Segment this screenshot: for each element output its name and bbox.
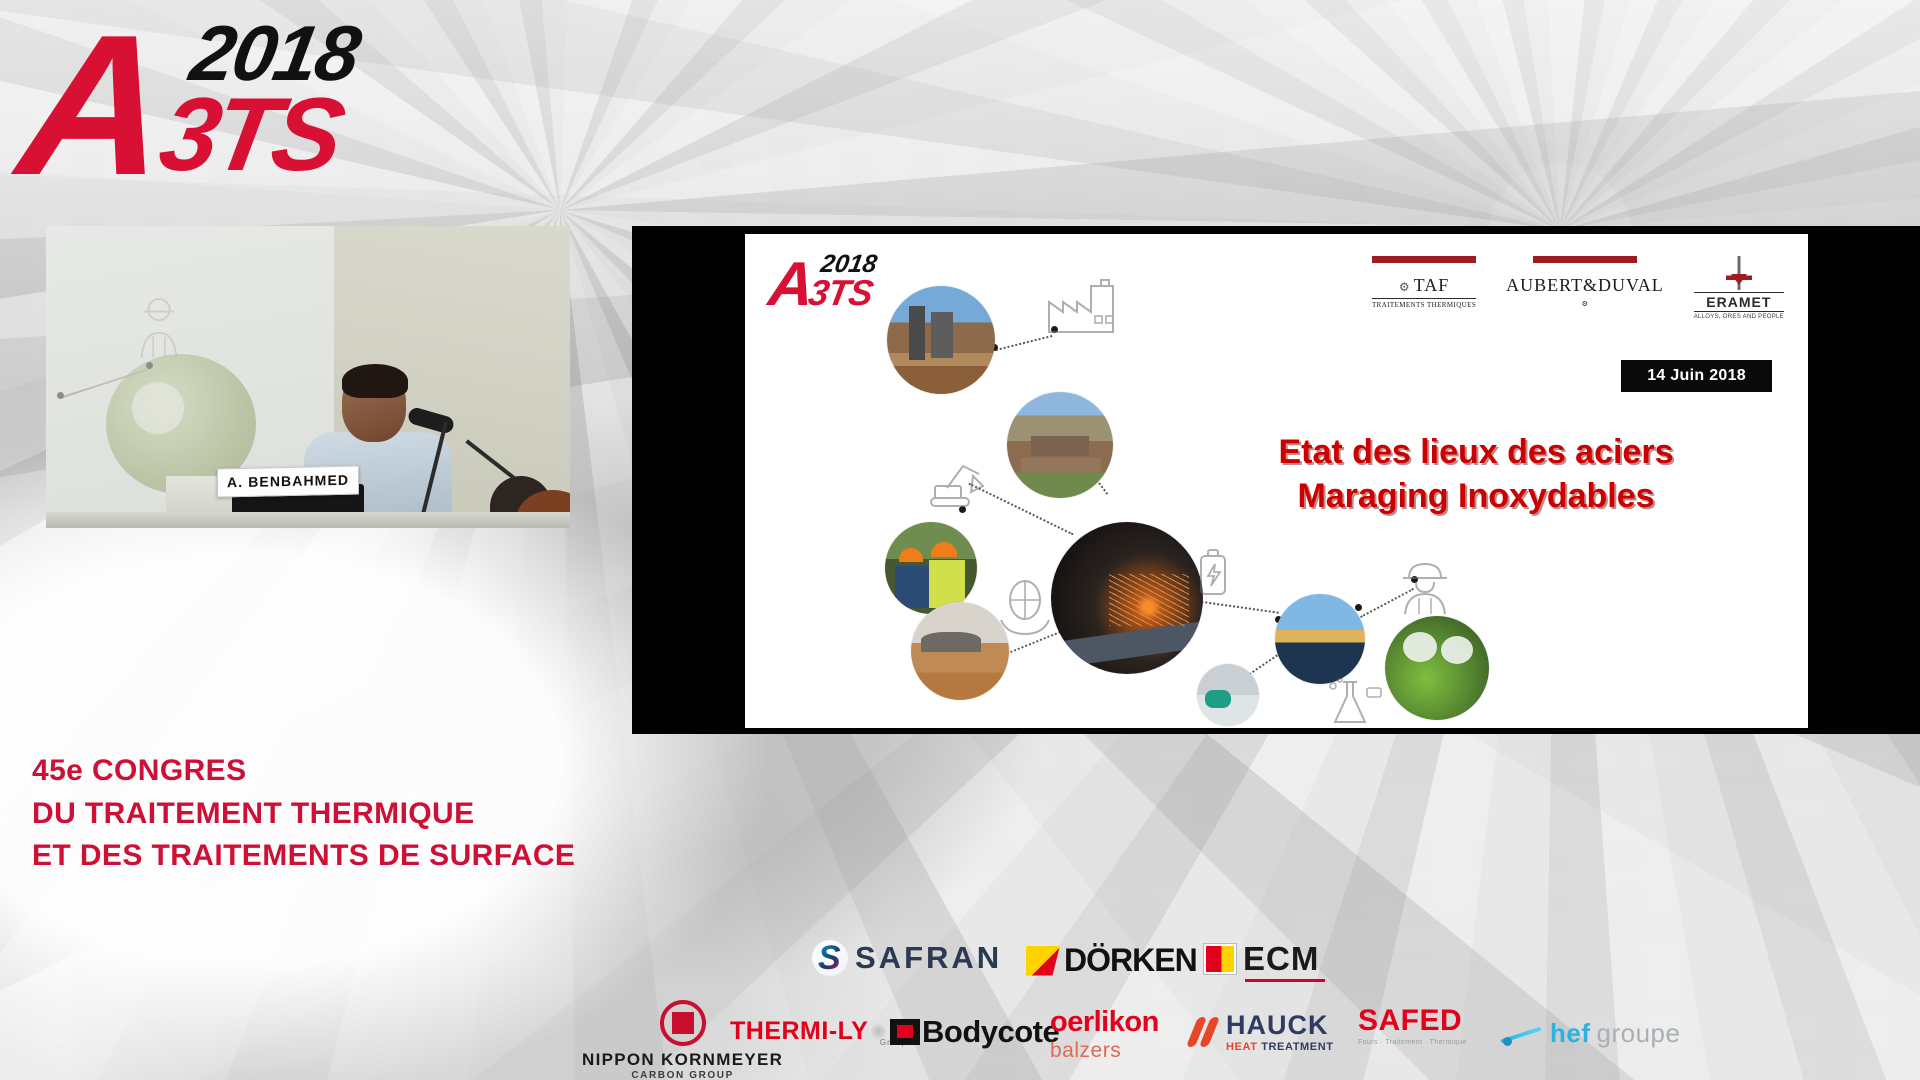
ecm-cube-icon xyxy=(1204,944,1236,974)
safran-swirl-icon xyxy=(812,940,848,976)
nature-plants-photo xyxy=(1385,616,1489,720)
battery-icon xyxy=(1197,548,1229,596)
sponsor-name-part-a: THERMI-LY xyxy=(730,1017,868,1046)
sponsor-logo-band: SAFRAN DÖRKEN ECM NIPPON KORNMEYER CARBO… xyxy=(560,918,1920,1080)
connector-line xyxy=(996,335,1053,351)
sponsor-logo-thermi-lyon[interactable]: THERMI-LY N Groupe xyxy=(730,1016,913,1047)
projected-worker-icon xyxy=(130,294,188,360)
grinding-sparks-photo xyxy=(1051,522,1203,674)
excavator-icon xyxy=(927,458,991,510)
sponsor-logo-dorken[interactable]: DÖRKEN xyxy=(1026,942,1197,979)
congress-line-1: 45e CONGRES xyxy=(32,750,672,793)
sponsor-name: SAFED xyxy=(1358,1004,1462,1038)
sponsor-name-part-a: HAUCK xyxy=(1226,1010,1329,1041)
a3ts-brand-logo: A 2018 3TS xyxy=(14,2,434,192)
sponsor-name-part-b1: HEAT xyxy=(1226,1041,1261,1053)
sponsor-logo-hef-groupe[interactable]: hef groupe xyxy=(1500,1018,1680,1049)
sponsor-name-part-b: balzers xyxy=(1050,1039,1121,1063)
sponsor-logo-safran[interactable]: SAFRAN xyxy=(812,940,1002,976)
node-dot xyxy=(1355,604,1362,611)
projected-node-dot xyxy=(146,362,153,369)
sponsor-logo-safed[interactable]: SAFED Fours · Traitement · Thermique xyxy=(1358,1004,1467,1049)
congress-caption: 45e CONGRES DU TRAITEMENT THERMIQUE ET D… xyxy=(32,750,672,878)
workers-helmets-photo xyxy=(885,522,977,614)
hauck-flame-icon xyxy=(1190,1017,1220,1047)
sponsor-subtitle: CARBON GROUP xyxy=(631,1070,734,1080)
lab-flask-icon xyxy=(1323,678,1383,728)
congress-line-2: DU TRAITEMENT THERMIQUE xyxy=(32,793,672,836)
sponsor-name-part-a: hef xyxy=(1550,1018,1591,1049)
thermi-lyon-sun-icon xyxy=(871,1024,886,1039)
bodycote-square-icon xyxy=(890,1019,920,1045)
globe-in-hands-icon xyxy=(995,578,1055,638)
sponsor-name: NIPPON KORNMEYER xyxy=(582,1050,783,1070)
hef-wave-icon xyxy=(1500,1019,1544,1049)
infographic xyxy=(745,234,1808,728)
presentation-slide-frame[interactable]: A 2018 3TS ⚙TAF TRAITEMENTS THERMIQUES A… xyxy=(632,226,1920,734)
factory-icon xyxy=(1045,278,1121,334)
mining-site-photo xyxy=(1007,392,1113,498)
brand-letter-a: A xyxy=(11,6,166,206)
worker-helmet-icon xyxy=(1399,560,1451,616)
sponsor-name: ECM xyxy=(1243,940,1319,978)
desk-edge xyxy=(46,512,570,528)
nippon-kornmeyer-ring-icon xyxy=(660,1000,706,1046)
sponsor-logo-oerlikon-balzers[interactable]: oerlikon balzers xyxy=(1050,1006,1159,1063)
sponsor-name-part-a: oerlikon xyxy=(1050,1006,1159,1039)
sponsor-name: SAFRAN xyxy=(855,940,1002,976)
coastal-plant-photo xyxy=(1275,594,1365,684)
brand-suffix: 3TS xyxy=(152,76,349,195)
sponsor-name-part-b: groupe xyxy=(1597,1018,1681,1049)
presentation-slide: A 2018 3TS ⚙TAF TRAITEMENTS THERMIQUES A… xyxy=(745,234,1808,728)
projected-node-dot xyxy=(57,392,64,399)
connector-line xyxy=(1197,600,1278,613)
lab-gloves-photo xyxy=(1197,664,1259,726)
congress-line-3: ET DES TRAITEMENTS DE SURFACE xyxy=(32,835,672,878)
speaker-hair xyxy=(342,364,408,398)
sponsor-name: DÖRKEN xyxy=(1064,942,1197,979)
sponsor-logo-hauck[interactable]: HAUCK HEAT TREATMENT xyxy=(1190,1010,1334,1053)
sponsor-logo-bodycote[interactable]: Bodycote xyxy=(890,1014,1059,1050)
sponsor-name-part-b2: TREATMENT xyxy=(1261,1041,1333,1053)
sponsor-name: Bodycote xyxy=(922,1014,1059,1050)
sponsor-logo-ecm[interactable]: ECM xyxy=(1204,940,1319,978)
speaker-nameplate: A. BENBAHMED xyxy=(217,466,359,498)
blast-furnace-photo xyxy=(887,286,995,394)
sponsor-subtitle: Fours · Traitement · Thermique xyxy=(1358,1038,1467,1049)
dorken-flag-icon xyxy=(1026,946,1060,976)
